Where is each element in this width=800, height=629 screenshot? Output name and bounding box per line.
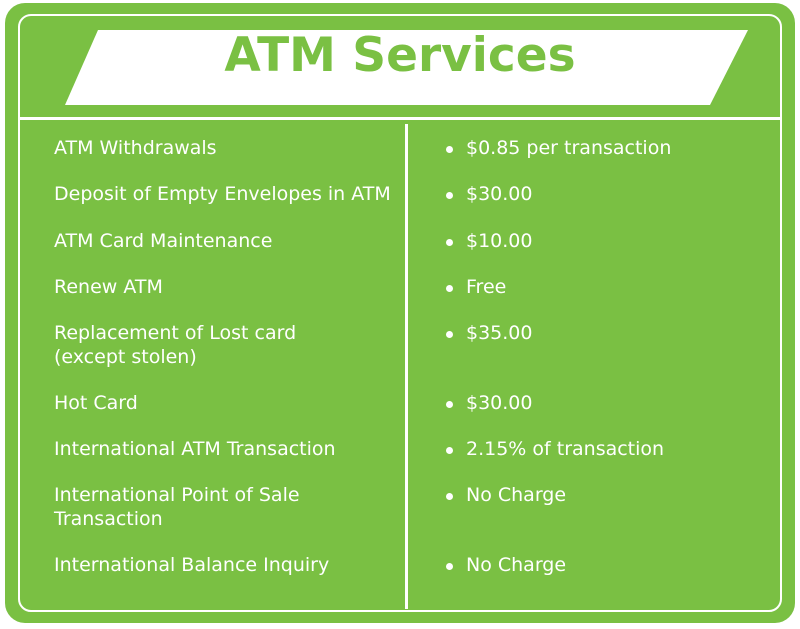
fee-value-row: $30.00: [437, 182, 532, 206]
bullet-icon: [446, 285, 453, 292]
bullet-icon: [446, 331, 453, 338]
service-name-row: International Point of Sale Transaction: [54, 483, 300, 531]
column-divider: [405, 124, 408, 609]
bullet-icon: [446, 146, 453, 153]
service-name-row: Deposit of Empty Envelopes in ATM: [54, 182, 391, 206]
fee-value-row: 2.15% of transaction: [437, 437, 664, 461]
fee-value-row: No Charge: [437, 553, 566, 577]
bullet-icon: [446, 401, 453, 408]
fee-value-label: $30.00: [466, 183, 532, 205]
service-name-row: International ATM Transaction: [54, 437, 336, 461]
fee-value-row: $35.00: [437, 321, 532, 345]
service-name-label: Deposit of Empty Envelopes in ATM: [54, 182, 391, 206]
fee-value-label: Free: [466, 276, 506, 298]
service-name-label: Renew ATM: [54, 275, 163, 299]
service-name-label: ATM Card Maintenance: [54, 229, 272, 253]
fee-value-row: $0.85 per transaction: [437, 136, 671, 160]
service-name-label: International Balance Inquiry: [54, 553, 329, 577]
fee-value-label: $10.00: [466, 230, 532, 252]
service-name-label: International ATM Transaction: [54, 437, 336, 461]
bullet-icon: [446, 239, 453, 246]
fee-value-label: $0.85 per transaction: [466, 137, 671, 159]
atm-services-card: ATM Services ATM WithdrawalsDeposit of E…: [5, 3, 795, 623]
bullet-icon: [446, 447, 453, 454]
bullet-icon: [446, 192, 453, 199]
service-name-row: ATM Card Maintenance: [54, 229, 272, 253]
service-name-label: International Point of Sale Transaction: [54, 483, 300, 531]
fee-value-label: 2.15% of transaction: [466, 438, 664, 460]
fee-value-row: $30.00: [437, 391, 532, 415]
bullet-icon: [446, 563, 453, 570]
fee-value-row: $10.00: [437, 229, 532, 253]
fee-value-row: No Charge: [437, 483, 566, 507]
service-name-row: Replacement of Lost card (except stolen): [54, 321, 296, 369]
service-name-row: ATM Withdrawals: [54, 136, 217, 160]
service-name-label: Replacement of Lost card (except stolen): [54, 321, 296, 369]
fee-value-row: Free: [437, 275, 506, 299]
bullet-icon: [446, 493, 453, 500]
header-separator-rule: [18, 117, 782, 120]
fee-value-label: $35.00: [466, 322, 532, 344]
page-title: ATM Services: [5, 27, 795, 85]
fee-value-label: No Charge: [466, 554, 566, 576]
service-name-row: International Balance Inquiry: [54, 553, 329, 577]
service-name-label: ATM Withdrawals: [54, 136, 217, 160]
service-name-row: Hot Card: [54, 391, 138, 415]
fee-value-label: $30.00: [466, 392, 532, 414]
fee-value-label: No Charge: [466, 484, 566, 506]
header-banner: ATM Services: [5, 3, 795, 119]
service-name-row: Renew ATM: [54, 275, 163, 299]
service-name-label: Hot Card: [54, 391, 138, 415]
